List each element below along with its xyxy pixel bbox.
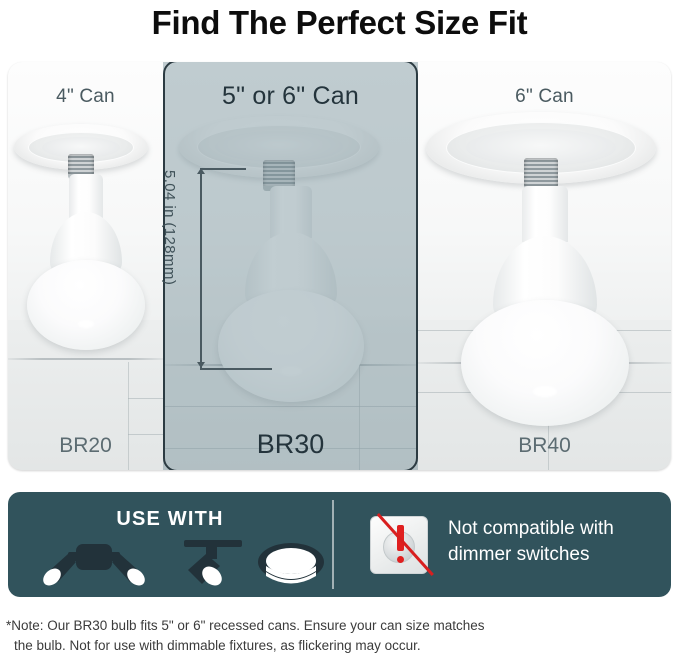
dimension-arrow-top xyxy=(197,168,205,174)
dimmer-warning: Not compatible with dimmer switches xyxy=(352,514,668,576)
dimension-label: 5.04 in (128mm) xyxy=(161,170,178,366)
infographic-root: Find The Perfect Size Fit xyxy=(0,0,679,661)
dimension-arrow-bottom xyxy=(197,362,205,368)
use-with-title: USE WITH xyxy=(8,508,332,531)
dimmer-warning-text: Not compatible with dimmer switches xyxy=(448,516,614,568)
dimension-tick-bottom xyxy=(200,368,272,370)
bulb-br20 xyxy=(8,62,163,470)
footnote-line2: the bulb. Not for use with dimmable fixt… xyxy=(6,636,674,656)
banner-divider xyxy=(332,500,334,589)
dimmer-warning-line1: Not compatible with xyxy=(448,516,614,542)
dimension-line xyxy=(200,168,202,368)
page-title: Find The Perfect Size Fit xyxy=(0,4,679,42)
dimmer-warning-line2: dimmer switches xyxy=(448,542,614,568)
compatibility-banner: USE WITH xyxy=(8,492,671,597)
footnote: *Note: Our BR30 bulb fits 5" or 6" reces… xyxy=(6,616,674,656)
panel-br20[interactable] xyxy=(8,62,163,470)
size-comparison-card: Linkind xyxy=(8,62,671,470)
footnote-line1: *Note: Our BR30 bulb fits 5" or 6" reces… xyxy=(6,616,674,636)
dimmer-switch-not-allowed-icon xyxy=(370,516,428,574)
compatible-fixture-icons xyxy=(26,540,326,588)
dimension-tick-top xyxy=(200,168,246,170)
panel-br40[interactable] xyxy=(418,62,671,470)
bulb-br40 xyxy=(418,62,671,470)
